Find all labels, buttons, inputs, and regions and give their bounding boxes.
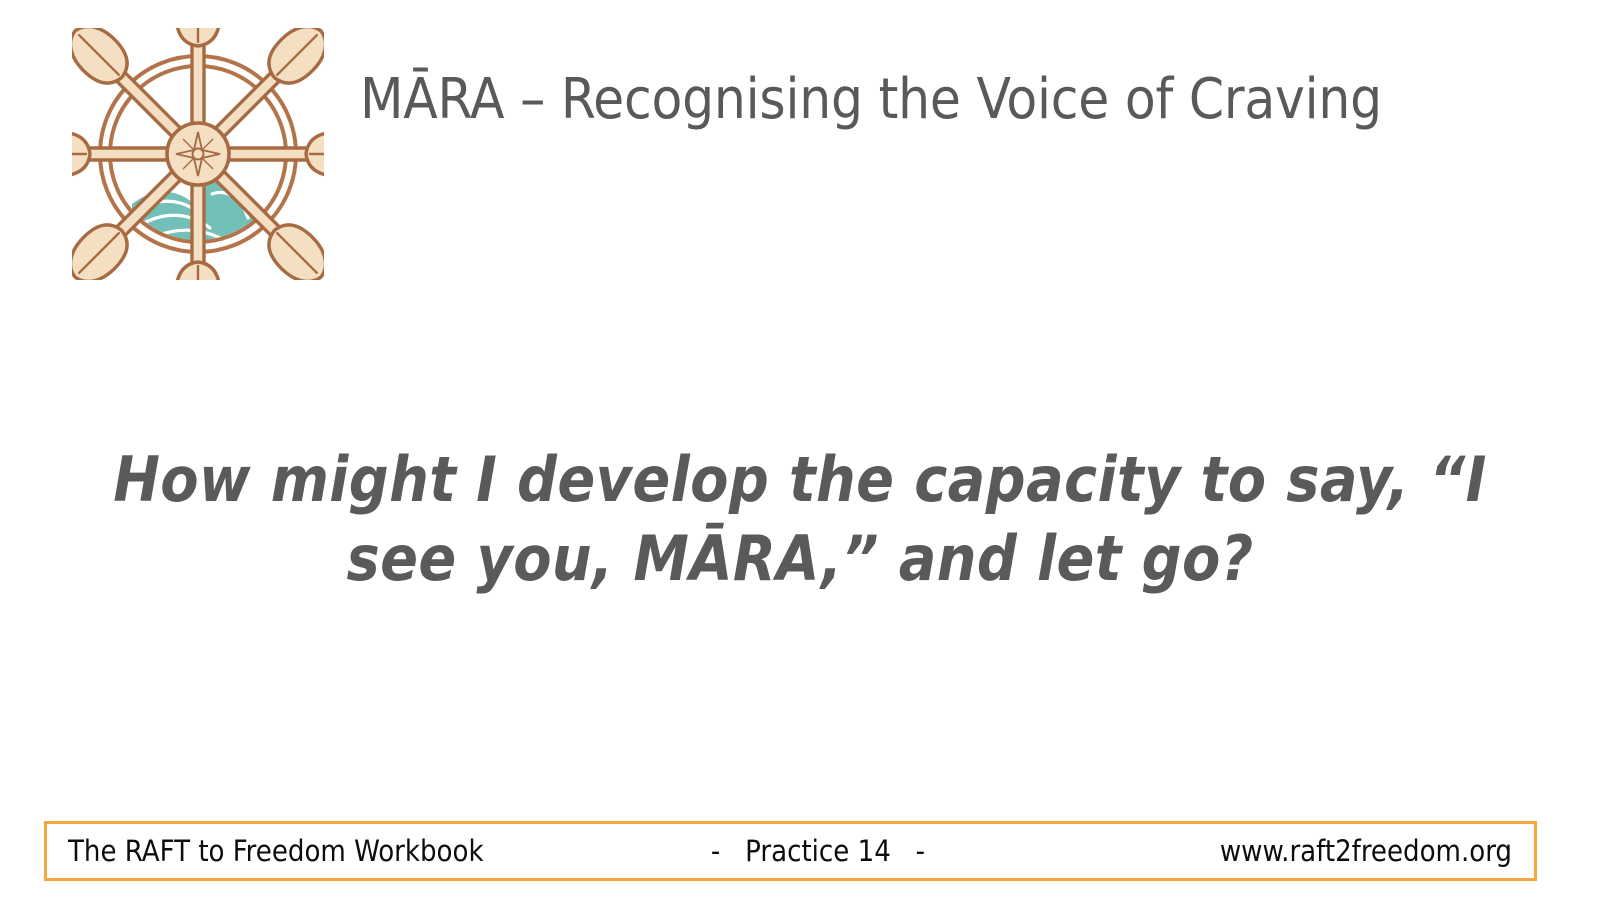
question-line-1: How might I develop the capacity to say,…: [80, 440, 1520, 519]
slide-title: MĀRA – Recognising the Voice of Craving: [360, 68, 1450, 132]
question-block: How might I develop the capacity to say,…: [80, 440, 1520, 599]
footer-website-url[interactable]: www.raft2freedom.org: [1220, 834, 1512, 868]
question-line-2: see you, MĀRA,” and let go?: [80, 519, 1520, 598]
slide-footer: The RAFT to Freedom Workbook - Practice …: [44, 821, 1537, 881]
ships-wheel-icon: [72, 28, 324, 280]
slide-canvas: MĀRA – Recognising the Voice of Craving …: [0, 0, 1600, 900]
raft-to-freedom-logo: [72, 28, 324, 280]
